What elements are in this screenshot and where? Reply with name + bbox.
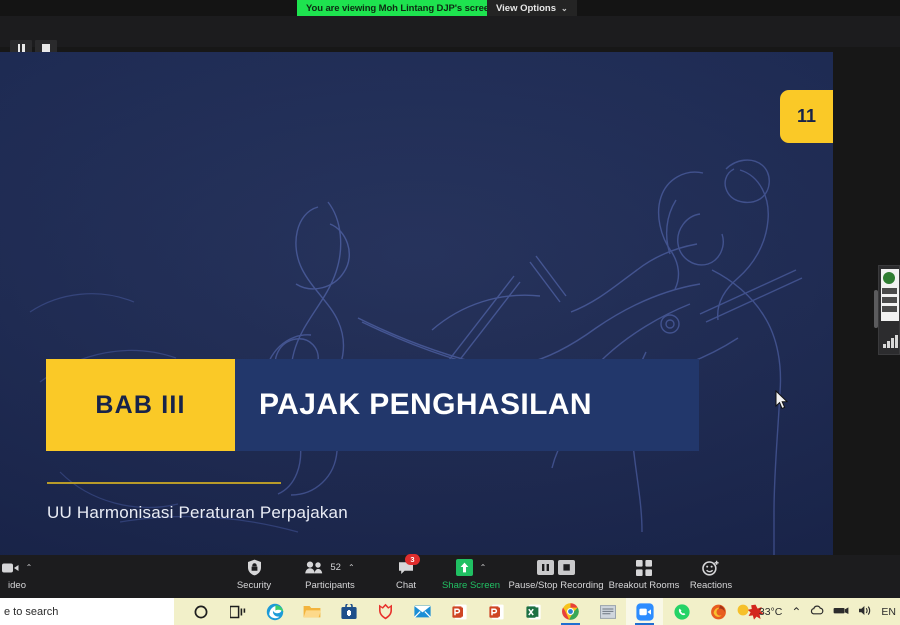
avatar — [883, 272, 895, 284]
stop-glyph — [558, 560, 575, 575]
toolbar-item-chat[interactable]: 3 Chat — [383, 558, 429, 591]
weather-icon[interactable] — [736, 603, 750, 620]
taskbar-search-box[interactable]: e to search — [0, 598, 174, 625]
chevron-down-icon: ⌄ — [561, 4, 568, 13]
chevron-up-icon[interactable]: ⌃ — [791, 605, 801, 619]
video-camera-glyph — [2, 562, 19, 574]
toolbar-item-recording[interactable]: Pause/Stop Recording — [500, 558, 612, 591]
view-options-label: View Options — [496, 3, 556, 14]
slide-line-art-background — [0, 52, 833, 555]
zoom-meeting-toolbar: ⌃ ideo Security 52 — [0, 555, 900, 598]
toolbar-label-chat: Chat — [396, 580, 416, 591]
toolbar-label-participants: Participants — [305, 580, 355, 591]
slide-title-box: PAJAK PENGHASILAN — [235, 359, 699, 451]
video-camera-icon: ⌃ — [2, 558, 33, 577]
notepad-icon[interactable] — [589, 598, 626, 625]
recording-controls-strip — [0, 16, 900, 47]
participants-icon: 52 ⌃ — [305, 558, 354, 577]
microsoft-store-icon[interactable] — [330, 598, 367, 625]
shield-icon — [247, 558, 262, 577]
powerpoint-icon[interactable] — [441, 598, 478, 625]
excel-icon[interactable] — [515, 598, 552, 625]
toolbar-label-share-screen: Share Screen — [442, 580, 500, 591]
firefox-icon[interactable] — [700, 598, 737, 625]
grid-glyph — [636, 560, 652, 576]
toolbar-item-breakout-rooms[interactable]: Breakout Rooms — [600, 558, 688, 591]
toolbar-label-breakout-rooms: Breakout Rooms — [609, 580, 680, 591]
whatsapp-icon[interactable] — [663, 598, 700, 625]
toolbar-item-video[interactable]: ⌃ ideo — [0, 558, 46, 591]
title-divider-rule — [47, 482, 281, 484]
slide-page-number: 11 — [797, 106, 816, 127]
chat-unread-badge: 3 — [405, 554, 420, 565]
file-explorer-icon[interactable] — [293, 598, 330, 625]
participants-glyph — [305, 561, 324, 574]
toolbar-label-security: Security — [237, 580, 271, 591]
system-tray: 33°C ⌃ EN — [736, 598, 896, 625]
shared-screen-slide[interactable]: 11 BAB III PAJAK PENGHASILAN UU Harmonis… — [0, 52, 833, 555]
chevron-up-icon[interactable]: ⌃ — [480, 563, 487, 572]
mail-icon[interactable] — [404, 598, 441, 625]
toolbar-label-reactions: Reactions — [690, 580, 732, 591]
chevron-up-icon[interactable]: ⌃ — [26, 563, 33, 572]
mouse-cursor-icon — [775, 390, 789, 410]
sharing-status-text: You are viewing Moh Lintang DJP's screen — [306, 3, 495, 14]
chapter-label: BAB III — [95, 391, 185, 420]
slide-title-row: BAB III PAJAK PENGHASILAN — [46, 359, 699, 451]
network-icon[interactable] — [833, 604, 849, 619]
share-screen-glyph — [456, 559, 473, 576]
sharing-status-pill: You are viewing Moh Lintang DJP's screen — [297, 0, 504, 16]
pause-icon — [18, 44, 25, 52]
share-screen-icon: ⌃ — [456, 558, 487, 577]
participants-count: 52 — [330, 562, 341, 573]
powerpoint-icon[interactable] — [478, 598, 515, 625]
taskbar-app-icons — [182, 598, 774, 625]
smiley-plus-icon — [702, 558, 720, 577]
toolbar-item-reactions[interactable]: Reactions — [680, 558, 742, 591]
slide-subtitle: UU Harmonisasi Peraturan Perpajakan — [47, 503, 348, 523]
toolbar-label-recording: Pause/Stop Recording — [508, 580, 603, 591]
zoom-icon[interactable] — [626, 598, 663, 625]
smiley-plus-glyph — [702, 560, 720, 576]
onedrive-icon[interactable] — [810, 604, 824, 620]
grid-icon — [636, 558, 652, 577]
thumbnail-list — [882, 288, 897, 312]
volume-icon[interactable] — [858, 604, 872, 620]
stop-icon — [42, 44, 50, 52]
chapter-label-box: BAB III — [46, 359, 235, 451]
toolbar-label-video: ideo — [8, 580, 26, 591]
screen-root: You are viewing Moh Lintang DJP's screen… — [0, 0, 900, 625]
toolbar-item-participants[interactable]: 52 ⌃ Participants — [295, 558, 365, 591]
toolbar-item-security[interactable]: Security — [226, 558, 282, 591]
task-view-icon[interactable] — [219, 598, 256, 625]
antivirus-shield-icon[interactable] — [367, 598, 404, 625]
signal-bars-icon — [883, 335, 898, 348]
slide-title: PAJAK PENGHASILAN — [259, 388, 592, 422]
cortana-icon[interactable] — [182, 598, 219, 625]
floating-video-panel[interactable] — [878, 265, 900, 355]
screen-share-banner: You are viewing Moh Lintang DJP's screen… — [0, 0, 900, 16]
language-indicator[interactable]: EN — [881, 606, 896, 618]
slide-page-badge: 11 — [780, 90, 833, 143]
shield-glyph — [247, 559, 262, 576]
chevron-up-icon[interactable]: ⌃ — [348, 563, 355, 572]
taskbar-search-text: e to search — [0, 606, 58, 618]
chat-bubble-icon: 3 — [398, 558, 414, 577]
chrome-icon[interactable] — [552, 598, 589, 625]
edge-icon[interactable] — [256, 598, 293, 625]
view-options-button[interactable]: View Options ⌄ — [487, 0, 577, 16]
weather-temperature[interactable]: 33°C — [759, 606, 782, 618]
pause-glyph — [537, 560, 554, 575]
toolbar-item-share-screen[interactable]: ⌃ Share Screen — [436, 558, 506, 591]
pause-stop-icon — [537, 558, 575, 577]
